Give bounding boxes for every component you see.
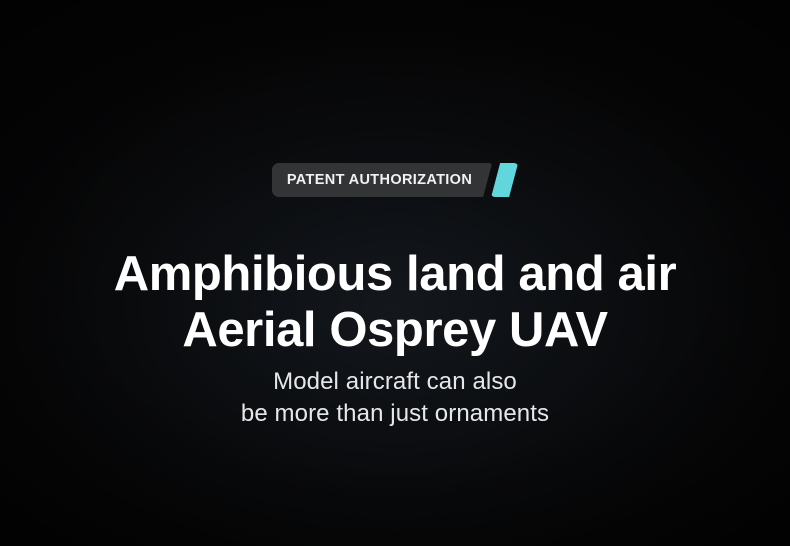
page-title: Amphibious land and air Aerial Osprey UA… [0,246,790,358]
badge-container: PATENT AUTHORIZATION [0,163,790,199]
patent-authorization-badge: PATENT AUTHORIZATION [272,163,518,197]
headline-line-1: Amphibious land and air [0,246,790,302]
headline-line-2: Aerial Osprey UAV [0,302,790,358]
promo-banner: PATENT AUTHORIZATION Amphibious land and… [0,0,790,546]
banner-content: PATENT AUTHORIZATION Amphibious land and… [0,0,790,546]
badge-label: PATENT AUTHORIZATION [287,173,472,188]
subtitle-line-1: Model aircraft can also [0,366,790,398]
badge-body: PATENT AUTHORIZATION [272,163,492,197]
page-subtitle: Model aircraft can also be more than jus… [0,366,790,430]
subtitle-line-2: be more than just ornaments [0,398,790,430]
badge-accent-shape [491,163,518,197]
